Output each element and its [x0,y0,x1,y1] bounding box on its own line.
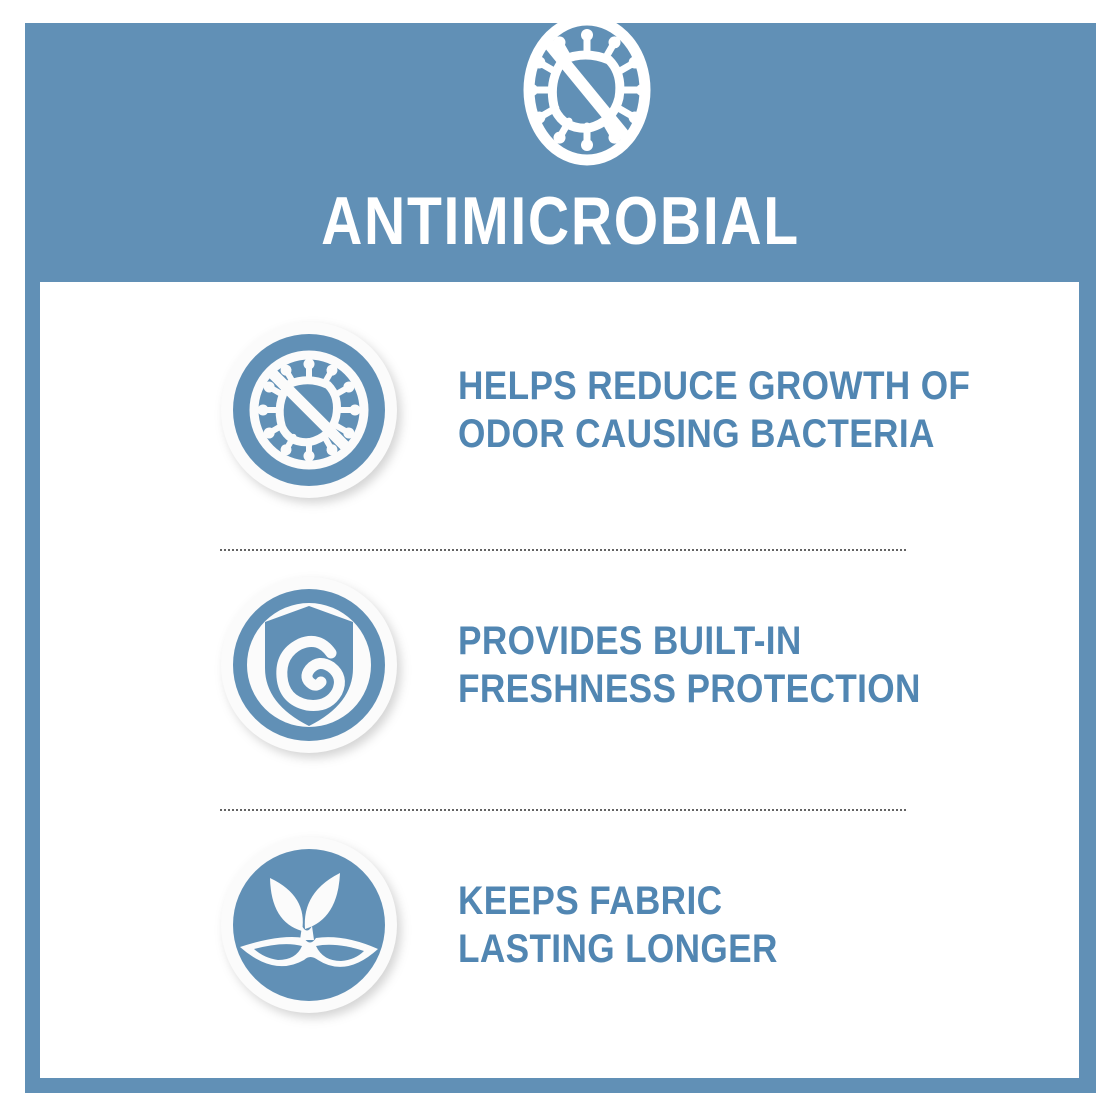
section-divider [220,809,906,811]
content-panel: HELPS REDUCE GROWTH OF ODOR CAUSING BACT… [40,282,1079,1078]
feature-line-1: PROVIDES BUILT-IN [458,617,921,665]
page-title: ANTIMICROBIAL [111,186,1011,256]
feature-line-2: FRESHNESS PROTECTION [458,665,921,713]
feature-row: KEEPS FABRIC LASTING LONGER [40,820,1079,1030]
no-virus-icon [521,11,653,169]
antimicrobial-infographic: ANTIMICROBIAL [0,0,1120,1120]
feature-line-1: KEEPS FABRIC [458,877,778,925]
sprout-leaf-icon [218,834,400,1016]
feature-text: KEEPS FABRIC LASTING LONGER [458,877,778,973]
feature-line-2: ODOR CAUSING BACTERIA [458,410,970,458]
section-divider [220,549,906,551]
feature-row: HELPS REDUCE GROWTH OF ODOR CAUSING BACT… [40,305,1079,515]
no-virus-icon [218,319,400,501]
header: ANTIMICROBIAL [25,23,1096,282]
feature-text: PROVIDES BUILT-IN FRESHNESS PROTECTION [458,617,921,713]
feature-line-2: LASTING LONGER [458,925,778,973]
feature-text: HELPS REDUCE GROWTH OF ODOR CAUSING BACT… [458,362,970,458]
shield-swirl-icon [218,574,400,756]
feature-row: PROVIDES BUILT-IN FRESHNESS PROTECTION [40,560,1079,770]
feature-line-1: HELPS REDUCE GROWTH OF [458,362,970,410]
